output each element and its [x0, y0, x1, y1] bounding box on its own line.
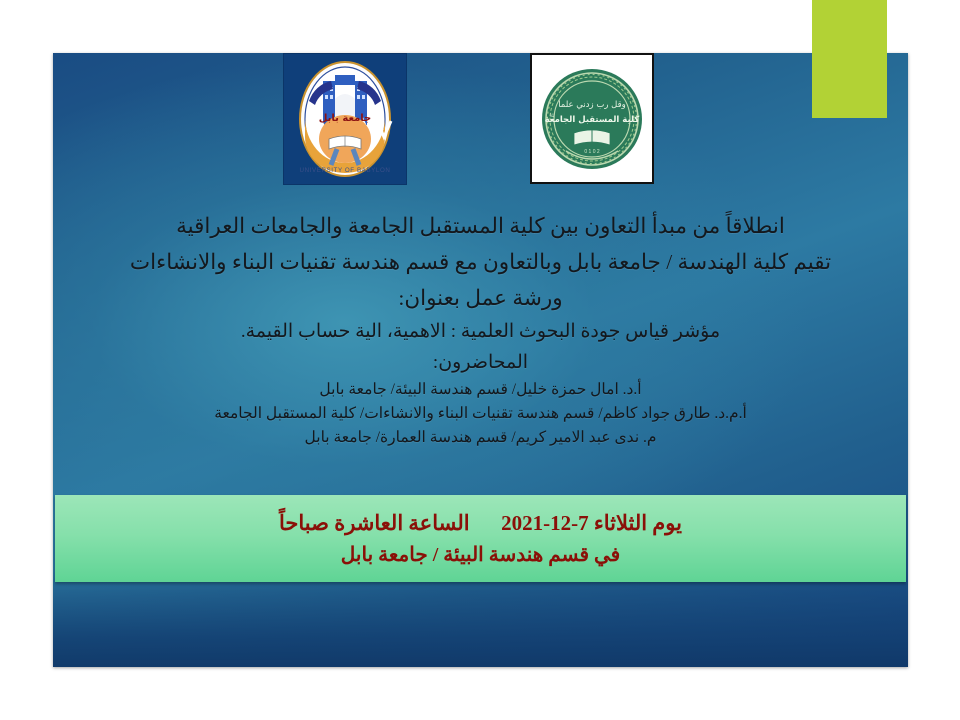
university-of-babylon-seal-icon: جامعة بابل UNIVERSITY OF BABYLON — [293, 59, 397, 179]
presentation-slide: جامعة بابل UNIVERSITY OF BABYLON — [53, 53, 908, 667]
banner-date-time-line: يوم الثلاثاء 7-12-2021 الساعة العاشرة صب… — [279, 507, 682, 539]
svg-text:2 0 1 0: 2 0 1 0 — [584, 149, 600, 155]
slide-page: جامعة بابل UNIVERSITY OF BABYLON — [0, 0, 960, 720]
lecturer-item-1: أ.د. امال حمزة خليل/ قسم هندسة البيئة/ ج… — [63, 378, 898, 402]
intro-line-1: انطلاقاً من مبدأ التعاون بين كلية المستق… — [63, 208, 898, 244]
logo-row: جامعة بابل UNIVERSITY OF BABYLON — [53, 53, 908, 193]
announcement-text-block: انطلاقاً من مبدأ التعاون بين كلية المستق… — [63, 208, 898, 450]
svg-text:جامعة بابل: جامعة بابل — [319, 113, 372, 124]
university-of-babylon-logo: جامعة بابل UNIVERSITY OF BABYLON — [283, 53, 407, 185]
banner-venue-line: في قسم هندسة البيئة / جامعة بابل — [341, 539, 620, 571]
svg-text:كلية المستقبل الجامعة: كلية المستقبل الجامعة — [545, 115, 640, 125]
lecturers-heading: المحاضرون: — [63, 347, 898, 378]
svg-text:وقل رب زدني علما: وقل رب زدني علما — [558, 100, 626, 110]
intro-line-2: تقيم كلية الهندسة / جامعة بابل وبالتعاون… — [63, 244, 898, 280]
lecturer-item-3: م. ندى عبد الامير كريم/ قسم هندسة العمار… — [63, 426, 898, 450]
date-venue-banner: يوم الثلاثاء 7-12-2021 الساعة العاشرة صب… — [55, 495, 906, 582]
al-mustaqbal-seal-icon: وقل رب زدني علما كلية المستقبل الجامعة A… — [540, 67, 644, 171]
workshop-title: مؤشر قياس جودة البحوث العلمية : الاهمية،… — [63, 316, 898, 347]
slide-bottom-shading — [53, 571, 908, 667]
lime-accent-rectangle — [812, 0, 887, 118]
lecturer-item-2: أ.م.د. طارق جواد كاظم/ قسم هندسة تقنيات … — [63, 402, 898, 426]
intro-line-3: ورشة عمل بعنوان: — [63, 280, 898, 316]
svg-text:UNIVERSITY OF BABYLON: UNIVERSITY OF BABYLON — [300, 167, 391, 174]
al-mustaqbal-university-college-logo: وقل رب زدني علما كلية المستقبل الجامعة A… — [530, 53, 654, 184]
